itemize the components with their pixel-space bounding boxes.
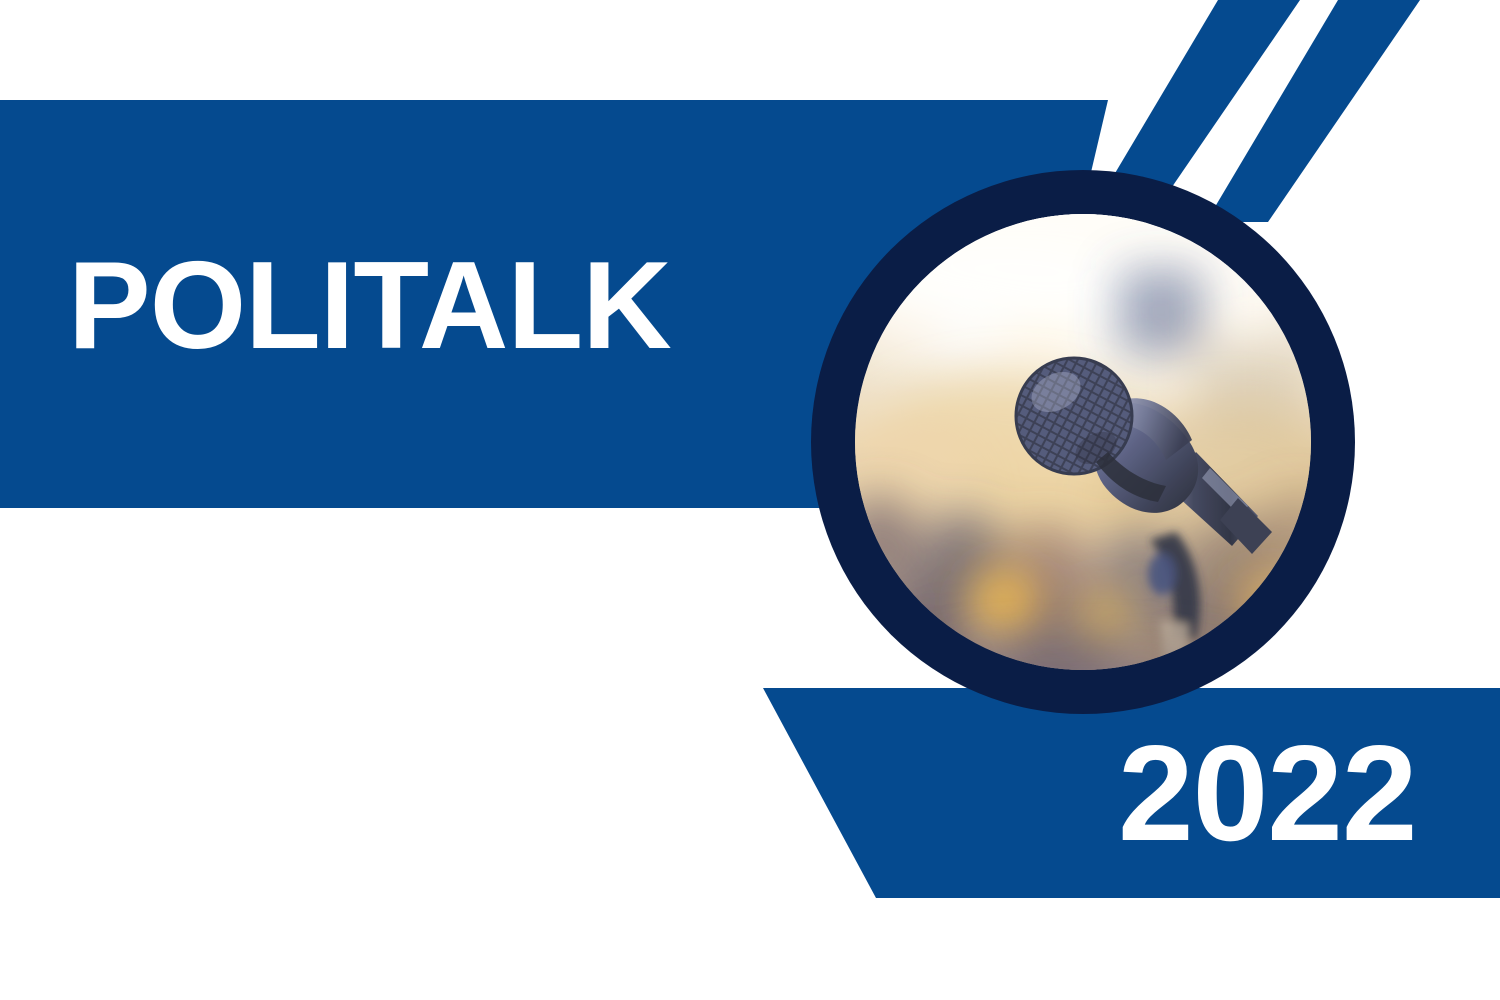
year-label: 2022 (1118, 717, 1417, 869)
banner-artwork: POLITALK 2022 (0, 0, 1500, 1000)
page-title: POLITALK (68, 237, 671, 375)
banner-root: POLITALK 2022 (0, 0, 1500, 1000)
